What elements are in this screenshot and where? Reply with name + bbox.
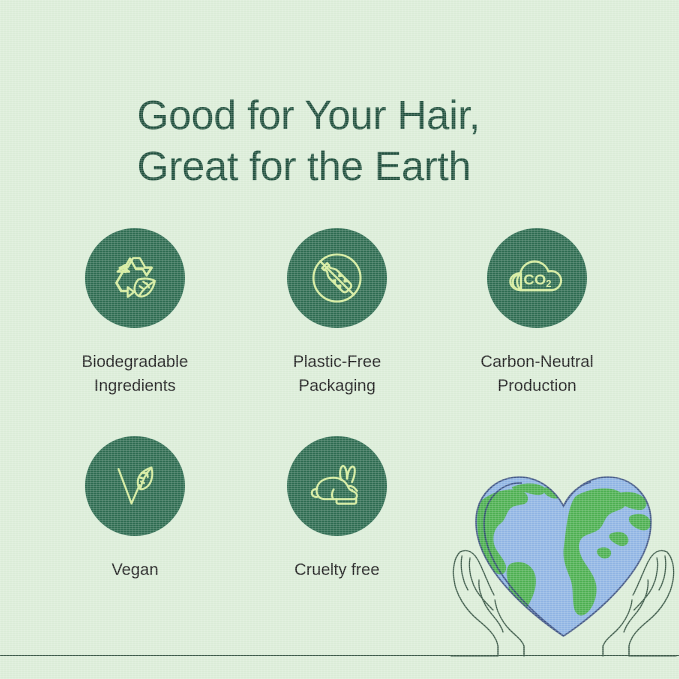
promo-panel: Good for Your Hair, Great for the Earth <box>0 0 679 679</box>
rabbit-icon <box>305 454 369 518</box>
badge-icon-circle <box>287 228 387 328</box>
heart-earth-in-hands-illustration <box>448 440 679 662</box>
badge-label: Carbon-Neutral Production <box>445 350 629 398</box>
co2-cloud-leaf-icon: CO2 <box>504 245 570 311</box>
badge-label: Biodegradable Ingredients <box>43 350 227 398</box>
badge-icon-circle <box>85 228 185 328</box>
bottom-divider-line <box>0 655 679 656</box>
badge-icon-circle: CO2 <box>487 228 587 328</box>
vegan-leaf-v-icon <box>105 456 165 516</box>
badge-cruelty-free: Cruelty free <box>245 436 429 582</box>
badge-plastic-free-packaging: Plastic-Free Packaging <box>245 228 429 398</box>
badge-icon-circle <box>85 436 185 536</box>
badge-icon-circle <box>287 436 387 536</box>
badge-label: Plastic-Free Packaging <box>245 350 429 398</box>
recycle-leaf-icon <box>104 247 166 309</box>
page-title: Good for Your Hair, Great for the Earth <box>137 90 657 192</box>
badge-carbon-neutral-production: CO2 Carbon-Neutral Production <box>445 228 629 398</box>
svg-text:CO2: CO2 <box>524 271 552 290</box>
badge-biodegradable-ingredients: Biodegradable Ingredients <box>43 228 227 398</box>
badge-label: Vegan <box>43 558 227 582</box>
badge-label: Cruelty free <box>245 558 429 582</box>
no-plastic-bottle-icon <box>305 246 369 310</box>
badge-vegan: Vegan <box>43 436 227 582</box>
